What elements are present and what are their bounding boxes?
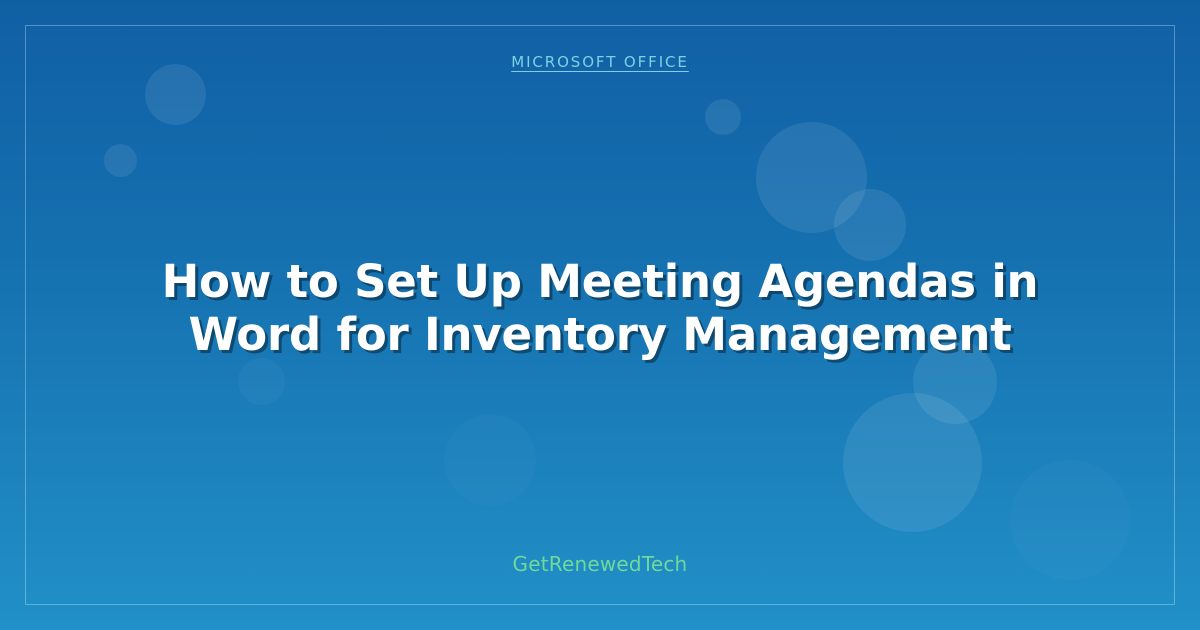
page-title: How to Set Up Meeting Agendas in Word fo… xyxy=(120,256,1080,360)
social-share-card: MICROSOFT OFFICE How to Set Up Meeting A… xyxy=(0,0,1200,630)
card-content: MICROSOFT OFFICE How to Set Up Meeting A… xyxy=(0,0,1200,630)
title-container: How to Set Up Meeting Agendas in Word fo… xyxy=(60,65,1140,552)
site-name: GetRenewedTech xyxy=(513,552,688,576)
